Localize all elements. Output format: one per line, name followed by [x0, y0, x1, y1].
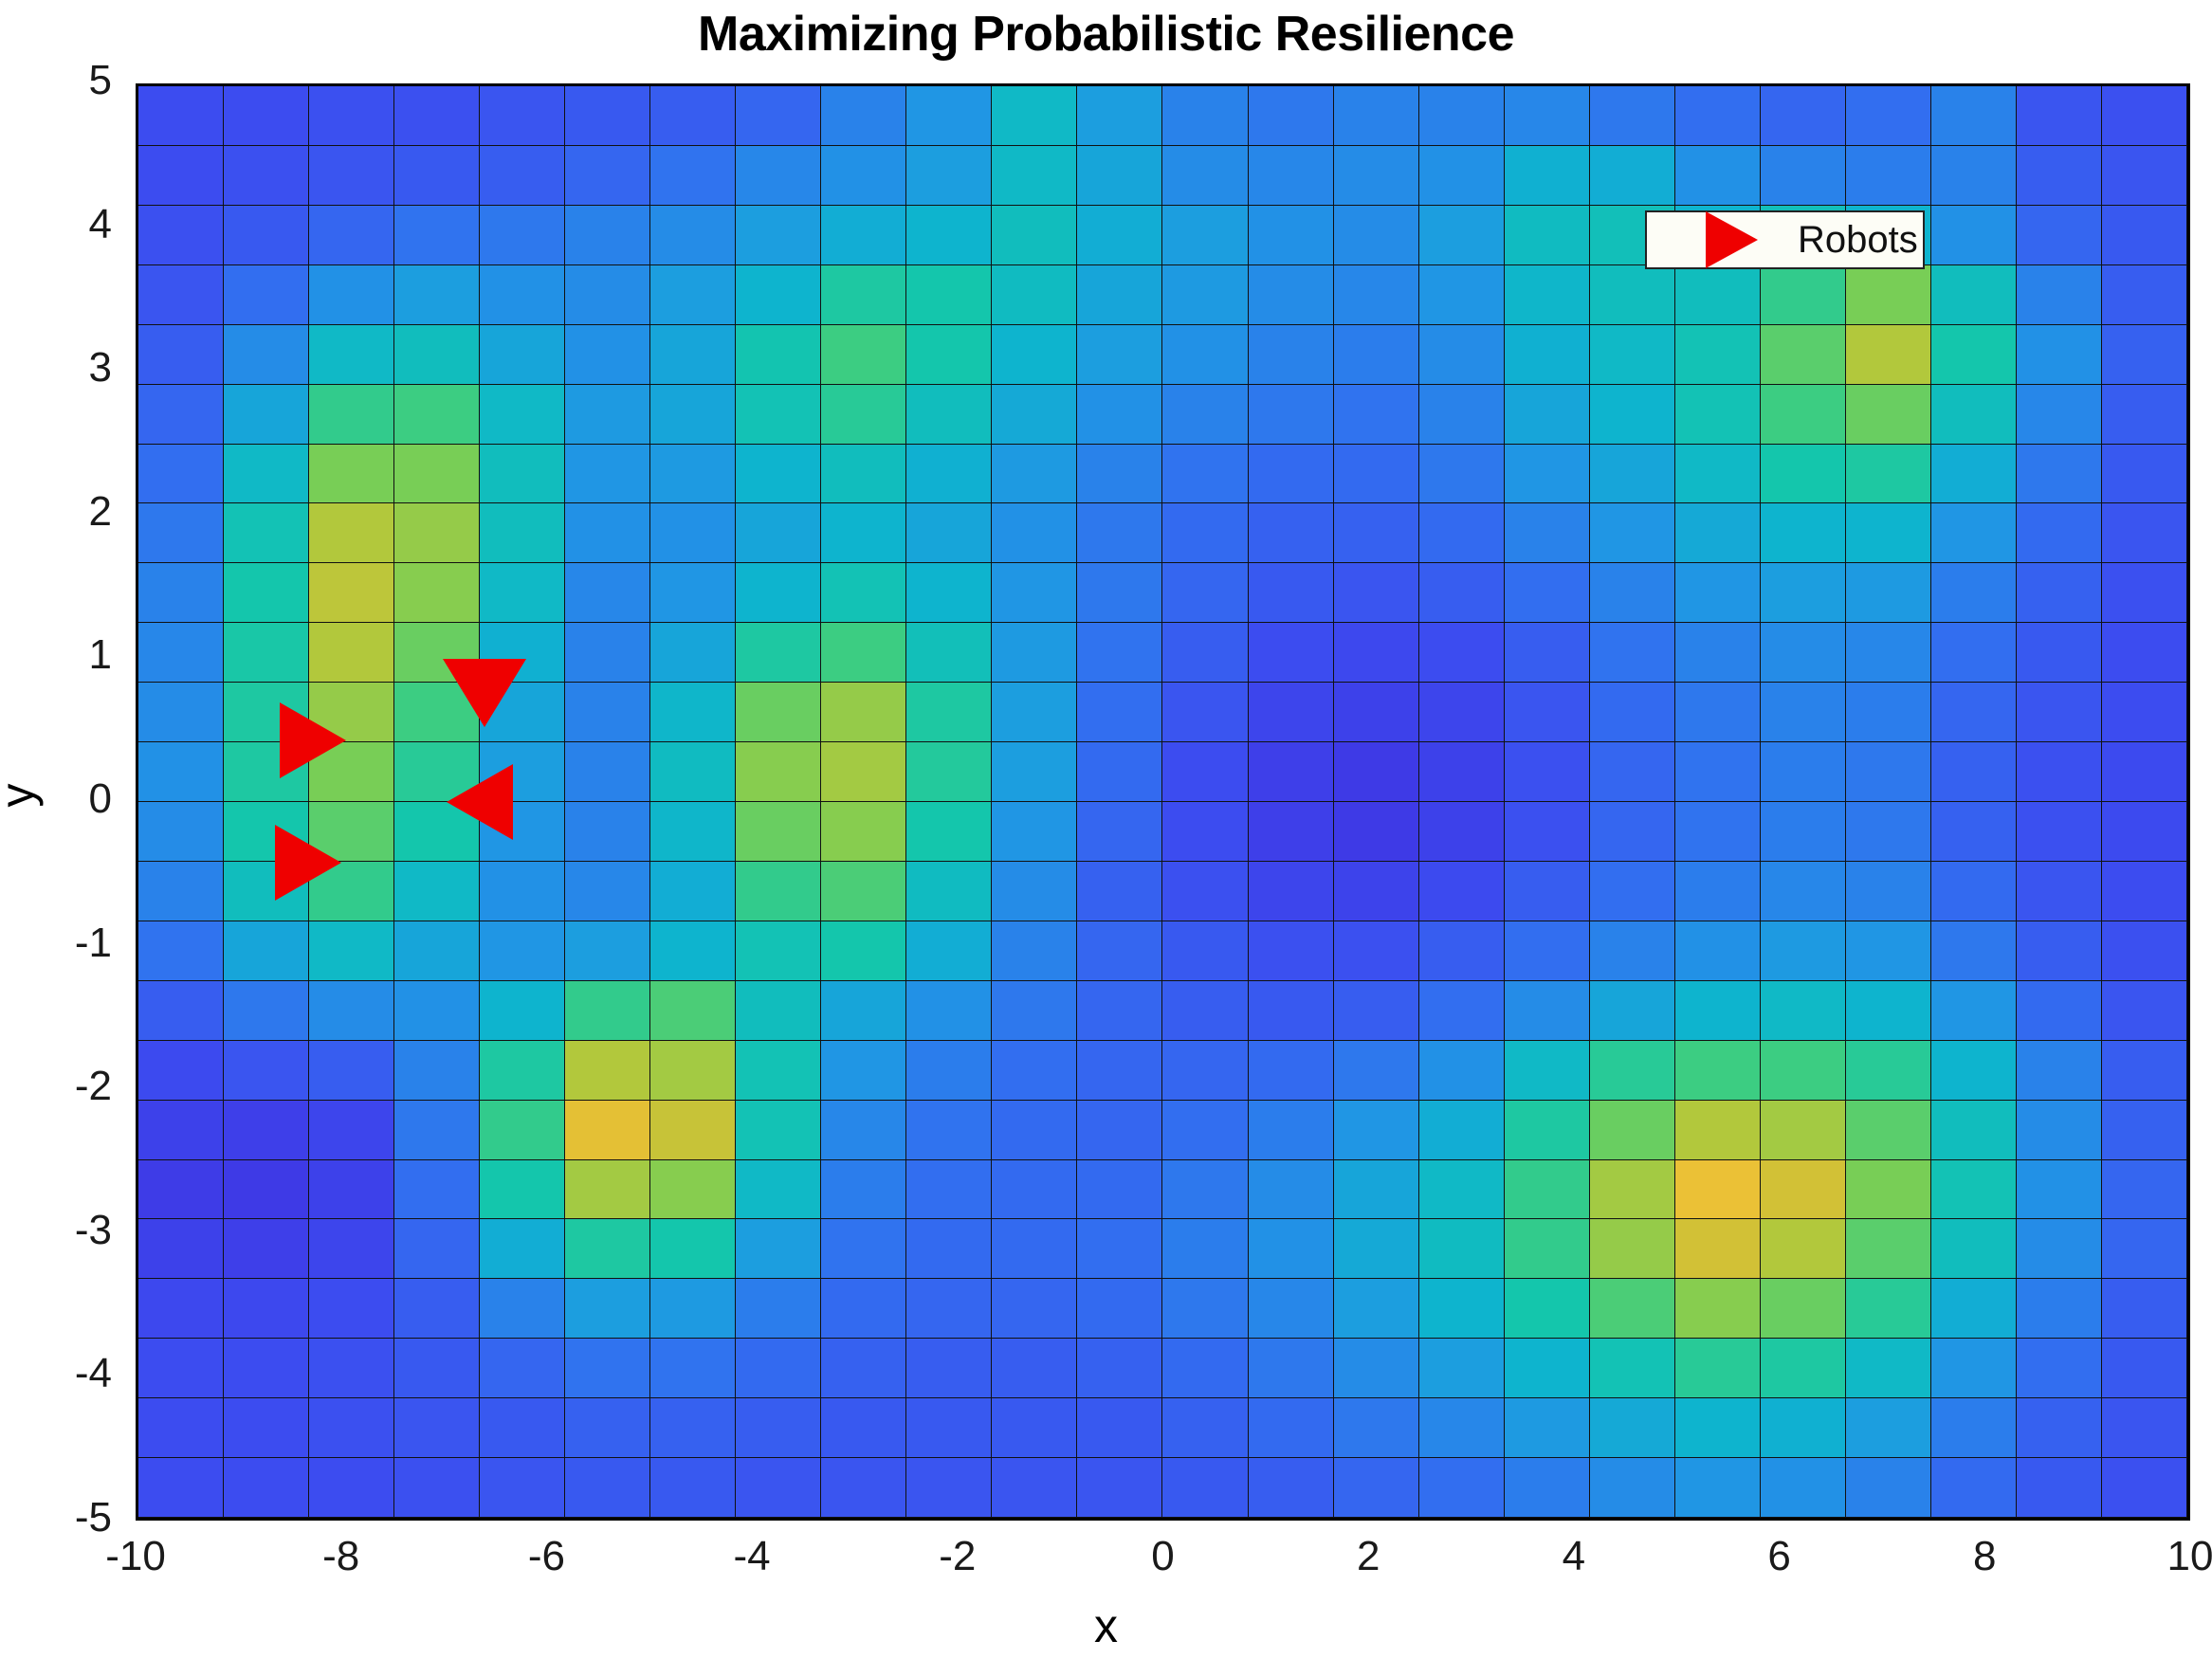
heatmap-cell [1931, 1219, 2017, 1279]
heatmap-cell [821, 1339, 906, 1398]
heatmap-cell [2017, 862, 2102, 921]
heatmap-cell [2017, 563, 2102, 623]
heatmap-cell [480, 563, 565, 623]
heatmap-cell [309, 206, 394, 265]
heatmap-cell [1931, 206, 2017, 265]
heatmap-cell [1077, 563, 1162, 623]
heatmap-cell [1077, 1160, 1162, 1220]
heatmap-cell [1931, 683, 2017, 742]
x-tick-label: 4 [1498, 1533, 1650, 1580]
heatmap-cell [1162, 1101, 1248, 1160]
heatmap-cell [2102, 503, 2187, 563]
heatmap-cell [1419, 683, 1505, 742]
heatmap-cell [1931, 1160, 2017, 1220]
heatmap-cell [1846, 563, 1931, 623]
heatmap-cell [1419, 1398, 1505, 1458]
heatmap-cell [1334, 1279, 1419, 1339]
heatmap-cell [138, 86, 224, 146]
heatmap-cell [1931, 981, 2017, 1041]
heatmap-cell [1249, 1398, 1334, 1458]
heatmap-cell [650, 1160, 736, 1220]
heatmap-cell [224, 325, 309, 385]
heatmap-cell [1505, 86, 1590, 146]
heatmap-cell [1419, 385, 1505, 445]
heatmap-cell [1675, 742, 1761, 802]
heatmap-cell [1590, 862, 1675, 921]
heatmap-cell [138, 1339, 224, 1398]
heatmap-cell [736, 206, 821, 265]
x-tick-label: -4 [676, 1533, 828, 1580]
heatmap-cell [821, 921, 906, 981]
heatmap-cell [821, 445, 906, 504]
heatmap-cell [309, 265, 394, 325]
heatmap-cell [736, 862, 821, 921]
heatmap-cell [1334, 683, 1419, 742]
heatmap-cell [736, 503, 821, 563]
heatmap-cell [1249, 1160, 1334, 1220]
heatmap-cell [992, 921, 1077, 981]
heatmap-cell [1419, 86, 1505, 146]
heatmap-cell [309, 623, 394, 683]
heatmap-cell [565, 981, 650, 1041]
heatmap-cell [1931, 86, 2017, 146]
heatmap-cell [1419, 325, 1505, 385]
heatmap-cell [1675, 1279, 1761, 1339]
heatmap-cell [1334, 802, 1419, 862]
heatmap-cell [906, 1279, 992, 1339]
heatmap-cell [1419, 1160, 1505, 1220]
heatmap-cell [1590, 146, 1675, 206]
heatmap-cell [224, 1219, 309, 1279]
heatmap-cell [1675, 86, 1761, 146]
heatmap-cell [906, 1160, 992, 1220]
heatmap-cell [1761, 1279, 1846, 1339]
heatmap-cell [1590, 623, 1675, 683]
heatmap-cell [2017, 86, 2102, 146]
heatmap-cell [2102, 1160, 2187, 1220]
heatmap-cell [565, 1101, 650, 1160]
heatmap-cell [1249, 1041, 1334, 1101]
heatmap-cell [138, 683, 224, 742]
heatmap-cell [309, 1458, 394, 1518]
heatmap-cell [1846, 623, 1931, 683]
heatmap-cell [138, 265, 224, 325]
heatmap-cell [2102, 1458, 2187, 1518]
heatmap-cell [2102, 1101, 2187, 1160]
heatmap-cell [2017, 385, 2102, 445]
heatmap-cell [1675, 683, 1761, 742]
heatmap-cell [138, 1041, 224, 1101]
heatmap-cell [1419, 981, 1505, 1041]
heatmap-cell [1761, 265, 1846, 325]
heatmap-cell [1162, 385, 1248, 445]
heatmap-cell [2102, 265, 2187, 325]
heatmap-cell [1761, 742, 1846, 802]
x-axis-label: x [0, 1598, 2212, 1653]
heatmap-cell [906, 445, 992, 504]
heatmap-cell [138, 623, 224, 683]
heatmap-cell [1334, 1398, 1419, 1458]
heatmap-cell [1249, 86, 1334, 146]
heatmap-cell [1761, 325, 1846, 385]
heatmap-cell [2017, 623, 2102, 683]
heatmap-cell [1419, 503, 1505, 563]
heatmap-cell [821, 742, 906, 802]
heatmap-cell [1590, 802, 1675, 862]
heatmap-cell [1846, 1041, 1931, 1101]
heatmap-cell [821, 981, 906, 1041]
heatmap-cell [480, 1279, 565, 1339]
heatmap-cell [480, 146, 565, 206]
heatmap-cell [821, 1101, 906, 1160]
heatmap-cell [1590, 325, 1675, 385]
heatmap-cell [1419, 921, 1505, 981]
heatmap-cell [2102, 921, 2187, 981]
heatmap-cell [1162, 503, 1248, 563]
heatmap-cell [1761, 683, 1846, 742]
heatmap-cell [1590, 563, 1675, 623]
heatmap-cell [2102, 146, 2187, 206]
heatmap-cell [1334, 503, 1419, 563]
heatmap-cell [224, 86, 309, 146]
heatmap-cell [1761, 445, 1846, 504]
heatmap-cell [2102, 1041, 2187, 1101]
x-tick-label: -8 [265, 1533, 417, 1580]
heatmap-cell [1419, 1219, 1505, 1279]
heatmap-cell [224, 1339, 309, 1398]
heatmap-cell [138, 1160, 224, 1220]
heatmap-plot-area [136, 83, 2190, 1521]
heatmap-cell [1249, 1339, 1334, 1398]
heatmap-cell [565, 1279, 650, 1339]
robot-marker [447, 764, 513, 840]
heatmap-cell [1846, 1458, 1931, 1518]
heatmap-cell [1675, 265, 1761, 325]
heatmap-cell [650, 503, 736, 563]
x-tick-label: 6 [1704, 1533, 1856, 1580]
heatmap-cell [1334, 1219, 1419, 1279]
heatmap-cell [906, 146, 992, 206]
heatmap-cell [480, 86, 565, 146]
heatmap-cell [565, 1219, 650, 1279]
heatmap-cell [736, 445, 821, 504]
heatmap-cell [309, 325, 394, 385]
heatmap-cell [736, 385, 821, 445]
heatmap-cell [2102, 862, 2187, 921]
heatmap-cell [309, 385, 394, 445]
heatmap-cell [1249, 921, 1334, 981]
heatmap-cell [2102, 1279, 2187, 1339]
y-tick-label: -1 [17, 920, 112, 967]
heatmap-cell [2102, 325, 2187, 385]
x-tick-label: 0 [1088, 1533, 1239, 1580]
heatmap-cell [565, 802, 650, 862]
y-tick-label: -5 [17, 1494, 112, 1541]
heatmap-cell [1846, 981, 1931, 1041]
heatmap-cell [1334, 1458, 1419, 1518]
heatmap-cell [650, 1398, 736, 1458]
heatmap-cell [394, 503, 480, 563]
heatmap-cell [480, 981, 565, 1041]
heatmap-cell [650, 146, 736, 206]
robot-marker [443, 659, 526, 727]
heatmap-cell [1249, 385, 1334, 445]
heatmap-cell [138, 563, 224, 623]
heatmap-cell [1334, 1101, 1419, 1160]
heatmap-cell [1675, 563, 1761, 623]
heatmap-cell [1505, 146, 1590, 206]
heatmap-cell [480, 385, 565, 445]
heatmap-cell [2017, 146, 2102, 206]
heatmap-cell [565, 623, 650, 683]
heatmap-cell [1419, 623, 1505, 683]
heatmap-cell [1334, 742, 1419, 802]
heatmap-cell [309, 503, 394, 563]
heatmap-cell [1590, 385, 1675, 445]
heatmap-cell [1162, 921, 1248, 981]
heatmap-cell [1846, 1101, 1931, 1160]
heatmap-cell [1761, 503, 1846, 563]
heatmap-cell [1761, 981, 1846, 1041]
heatmap-cell [1077, 981, 1162, 1041]
heatmap-cell [224, 206, 309, 265]
heatmap-cell [1931, 1339, 2017, 1398]
heatmap-cell [1590, 742, 1675, 802]
heatmap-cell [1505, 742, 1590, 802]
heatmap-cell [2102, 445, 2187, 504]
heatmap-cell [394, 265, 480, 325]
heatmap-cell [1846, 86, 1931, 146]
heatmap-cell [1675, 1458, 1761, 1518]
heatmap-cell [1931, 503, 2017, 563]
heatmap-cell [1249, 1458, 1334, 1518]
heatmap-cell [1675, 385, 1761, 445]
heatmap-cell [1505, 1101, 1590, 1160]
heatmap-cell [650, 981, 736, 1041]
heatmap-cell [1505, 445, 1590, 504]
heatmap-cell [1505, 683, 1590, 742]
heatmap-cell [1675, 981, 1761, 1041]
heatmap-cell [992, 563, 1077, 623]
heatmap-cell [1505, 921, 1590, 981]
heatmap-cell [2017, 683, 2102, 742]
heatmap-cell [650, 921, 736, 981]
heatmap-cell [2102, 1398, 2187, 1458]
y-tick-label: 4 [17, 201, 112, 248]
heatmap-cell [480, 445, 565, 504]
heatmap-cell [1761, 563, 1846, 623]
heatmap-cell [1162, 1398, 1248, 1458]
heatmap-cell [1419, 862, 1505, 921]
heatmap-cell [480, 325, 565, 385]
heatmap-cell [992, 503, 1077, 563]
heatmap-cell [1334, 265, 1419, 325]
heatmap-cell [1162, 1219, 1248, 1279]
heatmap-cell [1334, 1041, 1419, 1101]
heatmap-cell [821, 802, 906, 862]
heatmap-cell [1077, 1458, 1162, 1518]
heatmap-cell [1419, 563, 1505, 623]
heatmap-cell [224, 1458, 309, 1518]
heatmap-cell [821, 86, 906, 146]
heatmap-cell [821, 206, 906, 265]
heatmap-cell [224, 563, 309, 623]
heatmap-cell [1761, 802, 1846, 862]
heatmap-cell [1419, 1458, 1505, 1518]
heatmap-cell [1077, 1041, 1162, 1101]
heatmap-cell [394, 1339, 480, 1398]
heatmap-cell [1162, 146, 1248, 206]
heatmap-cell [565, 1339, 650, 1398]
heatmap-cell [650, 862, 736, 921]
heatmap-cell [992, 683, 1077, 742]
heatmap-cell [736, 1160, 821, 1220]
heatmap-cell [2017, 981, 2102, 1041]
heatmap-cell [565, 146, 650, 206]
heatmap-cell [224, 981, 309, 1041]
heatmap-cell [565, 1041, 650, 1101]
heatmap-cell [1334, 921, 1419, 981]
heatmap-cell [1077, 683, 1162, 742]
heatmap-cell [309, 146, 394, 206]
heatmap-cell [1931, 862, 2017, 921]
heatmap-cell [650, 683, 736, 742]
heatmap-cell [1846, 385, 1931, 445]
heatmap-cell [565, 921, 650, 981]
robot-marker [275, 825, 341, 901]
heatmap-cell [394, 862, 480, 921]
heatmap-cell [736, 325, 821, 385]
heatmap-cell [565, 385, 650, 445]
heatmap-cell [394, 86, 480, 146]
heatmap-cell [138, 802, 224, 862]
heatmap-cell [394, 206, 480, 265]
heatmap-cell [1162, 1339, 1248, 1398]
figure-root: Maximizing Probabilistic Resilience -10-… [0, 0, 2212, 1659]
heatmap-cell [138, 503, 224, 563]
heatmap-cell [736, 1458, 821, 1518]
heatmap-cell [650, 1219, 736, 1279]
heatmap-cell [821, 563, 906, 623]
heatmap-cell [1590, 1219, 1675, 1279]
heatmap-cell [1419, 445, 1505, 504]
heatmap-cell [736, 1041, 821, 1101]
heatmap-cell [1846, 1160, 1931, 1220]
heatmap-cell [394, 921, 480, 981]
heatmap-cell [1590, 1160, 1675, 1220]
heatmap-cell [1334, 325, 1419, 385]
heatmap-cell [1505, 325, 1590, 385]
legend-box: Robots [1645, 210, 1925, 269]
y-tick-label: 5 [17, 57, 112, 104]
heatmap-cell [992, 265, 1077, 325]
heatmap-cell [224, 623, 309, 683]
heatmap-cell [1675, 325, 1761, 385]
heatmap-cell [1249, 445, 1334, 504]
heatmap-cell [736, 86, 821, 146]
heatmap-cell [1846, 325, 1931, 385]
heatmap-cell [224, 921, 309, 981]
heatmap-cell [565, 1160, 650, 1220]
heatmap-cell [1419, 1339, 1505, 1398]
heatmap-cell [992, 1398, 1077, 1458]
heatmap-cell [1334, 385, 1419, 445]
heatmap-cell [992, 623, 1077, 683]
heatmap-cell [1846, 683, 1931, 742]
heatmap-cell [138, 742, 224, 802]
heatmap-cell [992, 862, 1077, 921]
heatmap-cell [1931, 1458, 2017, 1518]
heatmap-cell [650, 802, 736, 862]
heatmap-cell [1334, 862, 1419, 921]
heatmap-cell [1675, 862, 1761, 921]
heatmap-cell [1761, 1458, 1846, 1518]
heatmap-cell [736, 146, 821, 206]
heatmap-cell [138, 1458, 224, 1518]
heatmap-cell [1419, 146, 1505, 206]
heatmap-cell [2017, 1279, 2102, 1339]
heatmap-cell [224, 1398, 309, 1458]
heatmap-cell [394, 1101, 480, 1160]
heatmap-cell [650, 206, 736, 265]
heatmap-cell [394, 1398, 480, 1458]
heatmap-cell [138, 445, 224, 504]
heatmap-cell [480, 1219, 565, 1279]
heatmap-cell [736, 981, 821, 1041]
heatmap-cell [1675, 1101, 1761, 1160]
x-tick-label: 10 [2114, 1533, 2212, 1580]
heatmap-cell [1162, 445, 1248, 504]
heatmap-cell [1162, 862, 1248, 921]
heatmap-cell [565, 445, 650, 504]
heatmap-cell [138, 1219, 224, 1279]
heatmap-cell [1162, 1041, 1248, 1101]
heatmap-cell [1162, 86, 1248, 146]
heatmap-cell [1249, 981, 1334, 1041]
heatmap-cell [906, 802, 992, 862]
heatmap-cell [2017, 1041, 2102, 1101]
heatmap-cell [1249, 1101, 1334, 1160]
heatmap-cell [2017, 1101, 2102, 1160]
heatmap-cell [906, 1101, 992, 1160]
heatmap-cell [1675, 802, 1761, 862]
heatmap-cell [736, 1279, 821, 1339]
heatmap-cell [224, 1279, 309, 1339]
heatmap-cell [138, 385, 224, 445]
heatmap-cell [992, 802, 1077, 862]
heatmap-cell [1931, 921, 2017, 981]
chart-title: Maximizing Probabilistic Resilience [0, 6, 2212, 63]
heatmap-cell [1931, 325, 2017, 385]
heatmap-cell [1505, 623, 1590, 683]
heatmap-cell [1334, 445, 1419, 504]
heatmap-cell [394, 385, 480, 445]
heatmap-cell [736, 623, 821, 683]
heatmap-cell [650, 86, 736, 146]
heatmap-cell [906, 683, 992, 742]
heatmap-cell [1249, 563, 1334, 623]
heatmap-cell [565, 1398, 650, 1458]
heatmap-cell [1931, 1398, 2017, 1458]
x-tick-label: -6 [470, 1533, 622, 1580]
heatmap-cell [309, 563, 394, 623]
heatmap-cell [394, 1041, 480, 1101]
heatmap-cell [1590, 503, 1675, 563]
heatmap-cell [1419, 802, 1505, 862]
heatmap-cell [1419, 742, 1505, 802]
heatmap-cell [2017, 921, 2102, 981]
heatmap-cell [1077, 1101, 1162, 1160]
